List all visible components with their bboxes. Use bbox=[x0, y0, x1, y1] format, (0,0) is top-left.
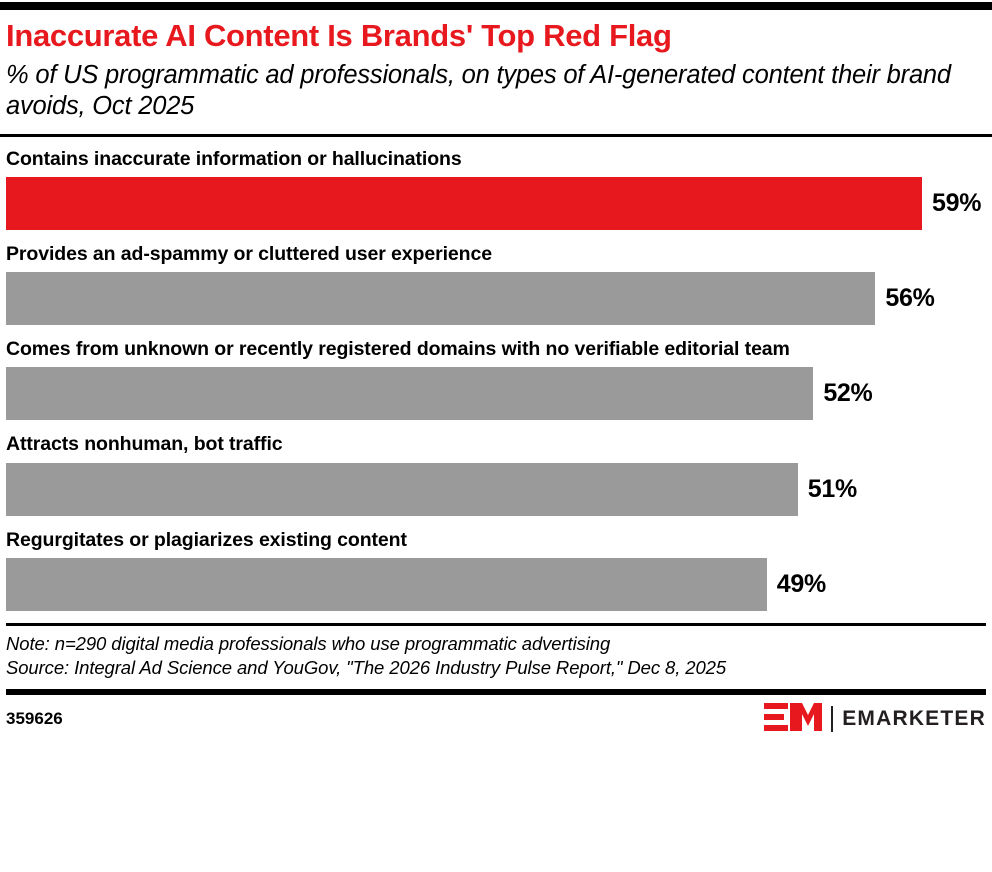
brand-lockup: EMARKETER bbox=[764, 702, 986, 737]
bar-row: 56% bbox=[6, 272, 986, 325]
footer-note: Note: n=290 digital media professionals … bbox=[6, 632, 986, 656]
footer-source: Source: Integral Ad Science and YouGov, … bbox=[6, 656, 986, 680]
chart-subtitle: % of US programmatic ad professionals, o… bbox=[6, 60, 986, 123]
bar-value-label: 59% bbox=[932, 189, 981, 218]
bar-category-label: Comes from unknown or recently registere… bbox=[6, 337, 986, 361]
bar-accent bbox=[6, 177, 922, 230]
brand-name: EMARKETER bbox=[842, 707, 986, 731]
footer-notes: Note: n=290 digital media professionals … bbox=[0, 626, 992, 681]
bar-category-label: Contains inaccurate information or hallu… bbox=[6, 147, 986, 171]
bar-row: 59% bbox=[6, 177, 986, 230]
bar bbox=[6, 463, 798, 516]
brand-divider bbox=[831, 706, 833, 732]
footer-bar: 359626 EMARKETER bbox=[0, 695, 992, 737]
bar bbox=[6, 558, 767, 611]
bar-group: Comes from unknown or recently registere… bbox=[6, 337, 986, 420]
bar-row: 51% bbox=[6, 463, 986, 516]
bar-row: 49% bbox=[6, 558, 986, 611]
bar-row: 52% bbox=[6, 367, 986, 420]
bar-value-label: 52% bbox=[823, 379, 872, 408]
bar-category-label: Attracts nonhuman, bot traffic bbox=[6, 432, 986, 456]
bar bbox=[6, 367, 813, 420]
top-rule bbox=[0, 2, 992, 10]
chart-id: 359626 bbox=[6, 709, 63, 729]
bar-group: Regurgitates or plagiarizes existing con… bbox=[6, 528, 986, 611]
chart-header: Inaccurate AI Content Is Brands' Top Red… bbox=[0, 19, 992, 123]
em-logo-icon bbox=[764, 702, 822, 737]
bar-group: Attracts nonhuman, bot traffic 51% bbox=[6, 432, 986, 515]
bar-category-label: Provides an ad-spammy or cluttered user … bbox=[6, 242, 986, 266]
chart-card: Inaccurate AI Content Is Brands' Top Red… bbox=[0, 0, 992, 872]
bar-chart-plot: Contains inaccurate information or hallu… bbox=[0, 147, 992, 611]
bar-group: Provides an ad-spammy or cluttered user … bbox=[6, 242, 986, 325]
bar-value-label: 56% bbox=[885, 284, 934, 313]
bar-category-label: Regurgitates or plagiarizes existing con… bbox=[6, 528, 986, 552]
bar-group: Contains inaccurate information or hallu… bbox=[6, 147, 986, 230]
bar-value-label: 49% bbox=[777, 570, 826, 599]
chart-title: Inaccurate AI Content Is Brands' Top Red… bbox=[6, 19, 986, 54]
header-divider-rule bbox=[0, 134, 992, 137]
bar-value-label: 51% bbox=[808, 475, 857, 504]
bar bbox=[6, 272, 875, 325]
